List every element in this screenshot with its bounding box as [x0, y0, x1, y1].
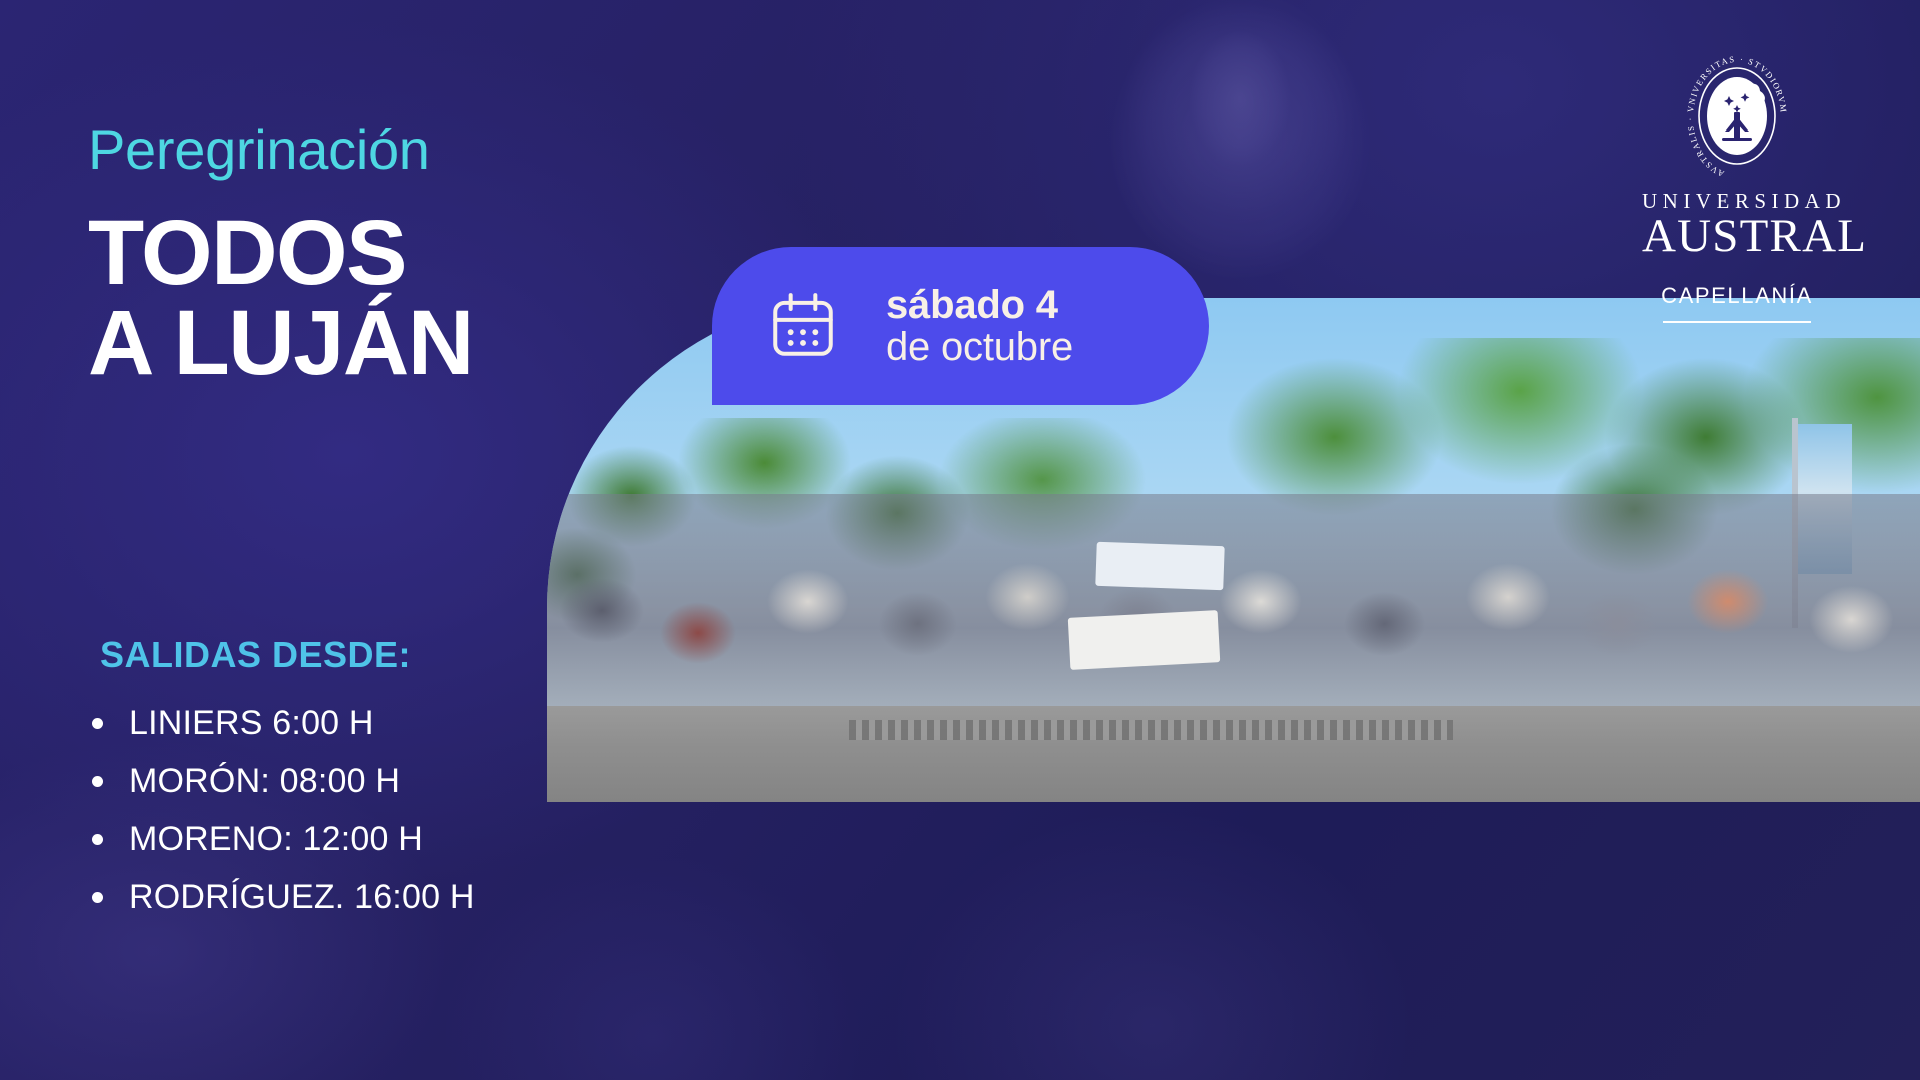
photo-grate [849, 720, 1453, 740]
date-badge: sábado 4 de octubre [712, 247, 1209, 405]
title-line-1: TODOS [88, 202, 406, 304]
austral-logo: AVSTRALIS · VNIVERSITAS · STVDIORVM UNIV… [1642, 52, 1832, 323]
departures-list: LINIERS 6:00 H MORÓN: 08:00 H MORENO: 12… [92, 706, 475, 938]
title-line-2: A LUJÁN [88, 298, 473, 388]
departure-label: RODRÍGUEZ. 16:00 H [129, 880, 475, 914]
left-content-column: Peregrinación TODOS A LUJÁN SALIDAS DESD… [88, 0, 608, 1080]
bullet-icon [92, 718, 103, 729]
logo-word-universidad: UNIVERSIDAD [1642, 191, 1832, 212]
photo-banner-upper [1095, 542, 1224, 590]
date-badge-text: sábado 4 de octubre [886, 284, 1073, 369]
departure-label: LINIERS 6:00 H [129, 706, 374, 740]
list-item: LINIERS 6:00 H [92, 706, 475, 740]
list-item: MORÓN: 08:00 H [92, 764, 475, 798]
kicker-peregrinacion: Peregrinación [88, 122, 430, 178]
bullet-icon [92, 776, 103, 787]
list-item: RODRÍGUEZ. 16:00 H [92, 880, 475, 914]
logo-word-austral: AUSTRAL [1642, 213, 1832, 261]
photo-banner-lower [1067, 610, 1220, 670]
departure-label: MORÓN: 08:00 H [129, 764, 400, 798]
logo-unit-capellania: CAPELLANÍA [1642, 285, 1832, 307]
photo-crowd [547, 494, 1920, 718]
list-item: MORENO: 12:00 H [92, 822, 475, 856]
page-title: TODOS A LUJÁN [88, 208, 473, 388]
date-badge-month: de octubre [886, 326, 1073, 368]
austral-seal-icon: AVSTRALIS · VNIVERSITAS · STVDIORVM [1685, 52, 1789, 180]
departures-heading: SALIDAS DESDE: [100, 634, 411, 676]
bullet-icon [92, 834, 103, 845]
bullet-icon [92, 892, 103, 903]
calendar-icon [766, 289, 840, 363]
logo-divider [1663, 321, 1811, 323]
date-badge-day: sábado 4 [886, 284, 1073, 326]
departure-label: MORENO: 12:00 H [129, 822, 423, 856]
